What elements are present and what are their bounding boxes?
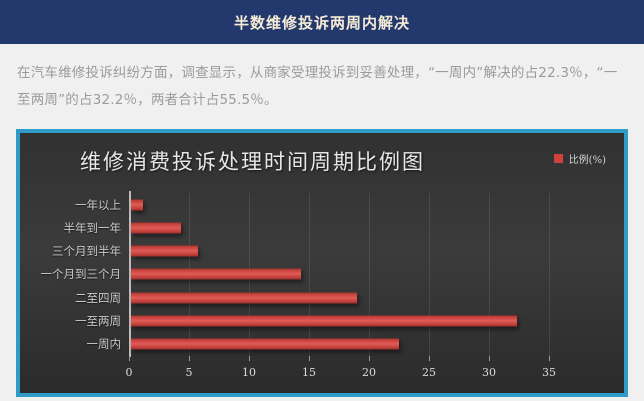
y-axis-category-label: 一个月到三个月 xyxy=(41,266,122,282)
x-tick-label: 35 xyxy=(542,366,556,379)
bar-row: 一周内 xyxy=(129,333,585,356)
bar[interactable] xyxy=(131,269,301,280)
x-tick-mark xyxy=(189,356,190,361)
x-tick-label: 5 xyxy=(186,366,193,379)
bar-row: 半年到一年 xyxy=(129,216,585,239)
page-root: 半数维修投诉两周内解决 在汽车维修投诉纠纷方面，调查显示，从商家受理投诉到妥善处… xyxy=(0,0,644,401)
bar[interactable] xyxy=(131,316,517,327)
x-tick-label: 10 xyxy=(242,366,256,379)
y-axis-category-label: 一至两周 xyxy=(75,313,121,329)
x-tick-mark xyxy=(309,356,310,361)
y-axis-category-label: 二至四周 xyxy=(75,290,121,306)
y-axis-category-label: 半年到一年 xyxy=(64,220,122,236)
page-title: 半数维修投诉两周内解决 xyxy=(234,12,410,33)
x-tick-label: 15 xyxy=(302,366,316,379)
y-axis-category-label: 一周内 xyxy=(87,336,122,352)
article-paragraph: 在汽车维修投诉纠纷方面，调查显示，从商家受理投诉到妥善处理，“一周内”解决的占2… xyxy=(17,60,629,114)
chart-legend: 比例(%) xyxy=(554,151,606,166)
y-axis-category-label: 三个月到半年 xyxy=(52,243,121,259)
bar-rows: 一年以上半年到一年三个月到半年一个月到三个月二至四周一至两周一周内 xyxy=(129,193,585,356)
x-tick-mark xyxy=(249,356,250,361)
x-tick-label: 25 xyxy=(422,366,436,379)
x-tick-mark xyxy=(429,356,430,361)
y-axis-category-label: 一年以上 xyxy=(75,197,121,213)
x-tick-mark xyxy=(369,356,370,361)
bar-row: 二至四周 xyxy=(129,286,585,309)
plot-area: 05101520253035 一年以上半年到一年三个月到半年一个月到三个月二至四… xyxy=(129,193,585,356)
chart-canvas: 维修消费投诉处理时间周期比例图 比例(%) 05101520253035 一年以… xyxy=(20,133,624,393)
x-tick-mark xyxy=(549,356,550,361)
x-tick-mark xyxy=(489,356,490,361)
x-tick-label: 30 xyxy=(482,366,496,379)
bar-row: 一年以上 xyxy=(129,193,585,216)
bar-row: 一至两周 xyxy=(129,309,585,332)
bar[interactable] xyxy=(131,292,357,303)
header-bar: 半数维修投诉两周内解决 xyxy=(0,0,644,44)
bar-row: 三个月到半年 xyxy=(129,240,585,263)
legend-swatch-icon xyxy=(554,154,563,163)
bar[interactable] xyxy=(131,199,143,210)
chart-title: 维修消费投诉处理时间周期比例图 xyxy=(80,146,425,176)
bar[interactable] xyxy=(131,222,181,233)
x-tick-label: 0 xyxy=(126,366,133,379)
bar-row: 一个月到三个月 xyxy=(129,263,585,286)
chart-panel: 维修消费投诉处理时间周期比例图 比例(%) 05101520253035 一年以… xyxy=(16,129,628,397)
x-tick-mark xyxy=(129,356,130,361)
bar[interactable] xyxy=(131,246,198,257)
page-bottom-strip xyxy=(0,397,644,401)
bar[interactable] xyxy=(131,339,399,350)
x-tick-label: 20 xyxy=(362,366,376,379)
legend-label: 比例(%) xyxy=(569,151,606,166)
